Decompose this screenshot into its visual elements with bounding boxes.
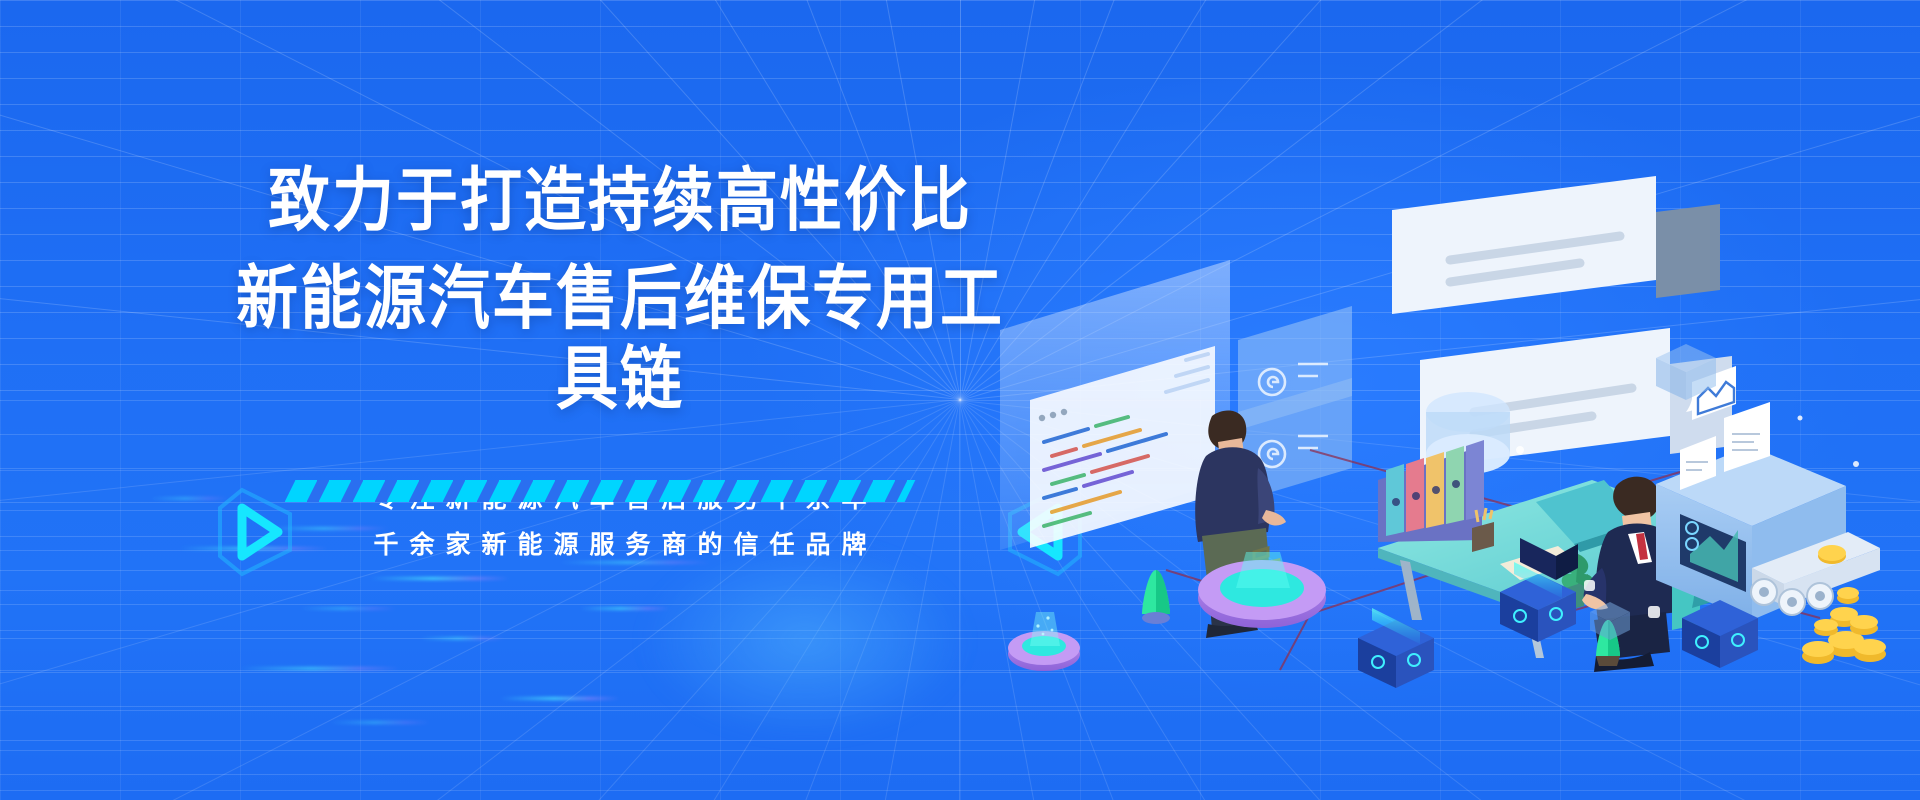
headline-block: 致力于打造持续高性价比 新能源汽车售后维保专用工具链 专注新能源汽车售后服务十余…	[230, 160, 1010, 584]
diagonal-stripe-divider	[285, 480, 916, 502]
light-streak	[330, 721, 430, 724]
light-streak	[300, 607, 396, 610]
banner-stage: 致力于打造持续高性价比 新能源汽车售后维保专用工具链 专注新能源汽车售后服务十余…	[0, 0, 1920, 800]
chat-bubble-top	[1392, 176, 1720, 314]
light-streak	[420, 637, 504, 640]
light-streak	[240, 667, 400, 670]
isometric-office-illustration	[980, 150, 1920, 690]
subtitle-line-2: 千余家新能源服务商的信任品牌	[230, 522, 1010, 568]
headline-line-2: 新能源汽车售后维保专用工具链	[230, 258, 1010, 419]
light-streak	[500, 697, 620, 700]
headline-line-1: 致力于打造持续高性价比	[230, 160, 1010, 241]
light-streak	[580, 607, 670, 610]
